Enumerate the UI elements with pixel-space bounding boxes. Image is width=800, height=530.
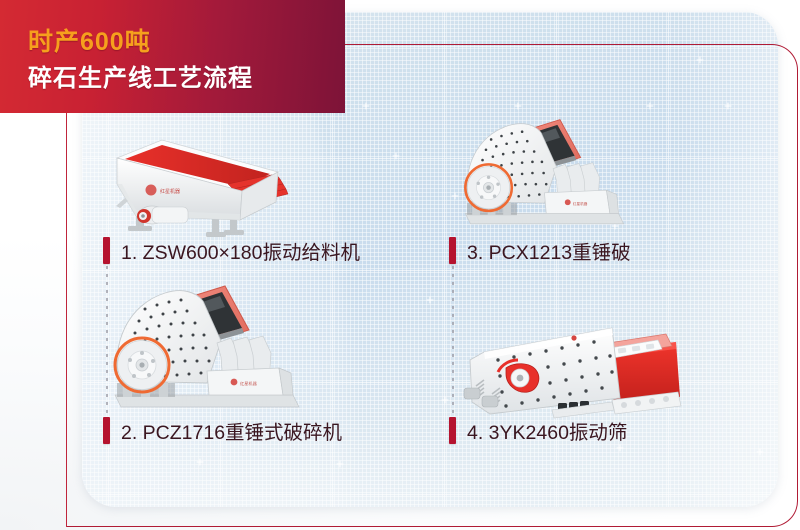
svg-text:红星机器: 红星机器 xyxy=(240,380,258,387)
caption-label-4: 4. 3YK2460振动筛 xyxy=(467,416,627,445)
svg-text:红星机器: 红星机器 xyxy=(573,201,588,206)
connector-dotted-line xyxy=(452,266,454,426)
banner-title-line2: 碎石生产线工艺流程 xyxy=(28,58,253,93)
caption-marker-bar xyxy=(103,417,110,444)
caption-marker-bar xyxy=(103,237,110,264)
svg-text:红星机器: 红星机器 xyxy=(160,188,180,195)
caption-item-2[interactable]: 2. PCZ1716重锤式破碎机 xyxy=(103,416,342,445)
caption-label-3: 3. PCX1213重锤破 xyxy=(467,236,631,265)
caption-marker-bar xyxy=(449,417,456,444)
banner-title-line1: 时产600吨 xyxy=(28,22,151,58)
caption-item-1[interactable]: 1. ZSW600×180振动给料机 xyxy=(103,236,360,265)
caption-marker-bar xyxy=(449,237,456,264)
machine-image-hammer-crusher-pcx: 红星机器 xyxy=(455,112,640,234)
title-banner: 时产600吨 碎石生产线工艺流程 xyxy=(0,0,345,113)
caption-item-3[interactable]: 3. PCX1213重锤破 xyxy=(449,236,631,265)
machine-image-vibrating-screen xyxy=(462,302,687,424)
connector-dotted-line xyxy=(106,266,108,426)
poster-stage: 红星机器 xyxy=(0,0,800,530)
caption-label-1: 1. ZSW600×180振动给料机 xyxy=(121,236,360,265)
machine-image-hammer-crusher-pcz: 红星机器 xyxy=(103,283,318,413)
caption-item-4[interactable]: 4. 3YK2460振动筛 xyxy=(449,416,627,445)
machine-image-vibrating-feeder: 红星机器 xyxy=(100,128,290,243)
caption-label-2: 2. PCZ1716重锤式破碎机 xyxy=(121,416,342,445)
